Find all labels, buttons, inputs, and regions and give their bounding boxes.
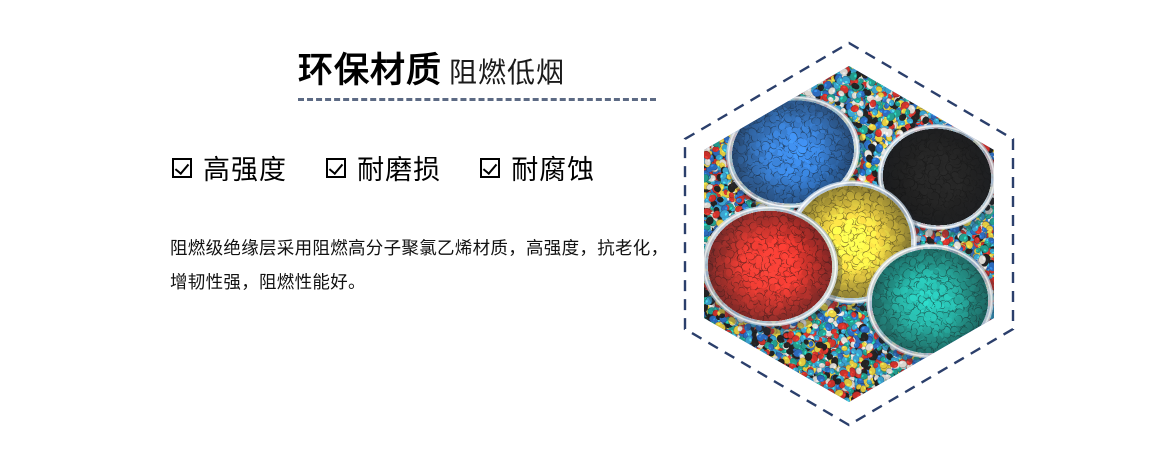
- text-column: 环保材质阻燃低烟 高强度 耐磨损 耐腐蚀 阻燃级绝缘层采用阻燃高分子聚氯乙烯材质…: [0, 0, 690, 452]
- headline-primary: 环保材质: [298, 51, 442, 91]
- headline-divider: [298, 98, 656, 101]
- feature-label-1: 耐磨损: [357, 148, 441, 187]
- checked-checkbox-icon: [172, 158, 192, 178]
- checked-checkbox-icon: [326, 158, 346, 178]
- checked-checkbox-icon: [480, 158, 500, 178]
- headline-block: 环保材质阻燃低烟: [298, 48, 668, 101]
- hexagon-image-frame: [683, 41, 1015, 427]
- feature-list: 高强度 耐磨损 耐腐蚀: [172, 148, 672, 187]
- feature-label-0: 高强度: [203, 148, 287, 187]
- feature-item-2: 耐腐蚀: [480, 148, 595, 187]
- feature-item-0: 高强度: [172, 148, 287, 187]
- headline-secondary: 阻燃低烟: [449, 56, 565, 89]
- description-text: 阻燃级绝缘层采用阻燃高分子聚氯乙烯材质，高强度，抗老化，增韧性强，阻燃性能好。: [170, 232, 670, 300]
- feature-label-2: 耐腐蚀: [511, 148, 595, 187]
- feature-item-1: 耐磨损: [326, 148, 441, 187]
- page-title: 环保材质阻燃低烟: [298, 48, 668, 94]
